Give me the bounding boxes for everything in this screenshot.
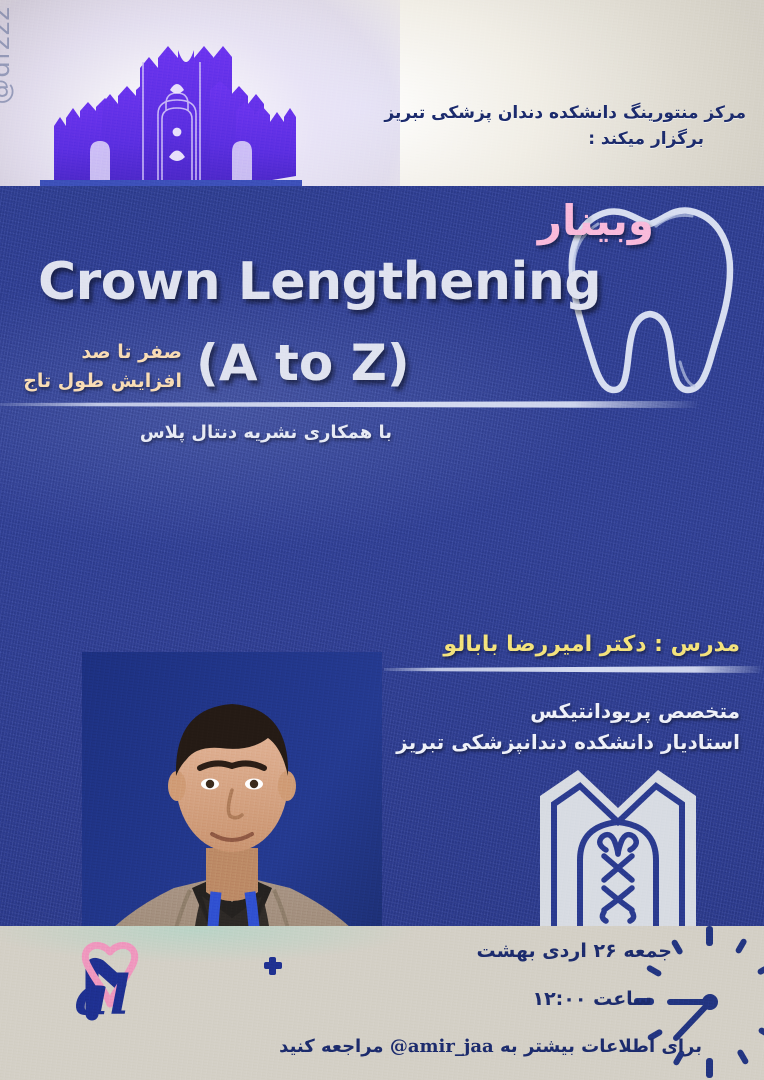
brand-wordmark: ental — [74, 963, 130, 1022]
webinar-poster: مرکز منتورینگ دانشکده دندان پزشکی تبریز … — [0, 0, 764, 1080]
poster-header: مرکز منتورینگ دانشکده دندان پزشکی تبریز … — [0, 0, 764, 186]
collaboration-text: با همکاری نشریه دنتال پلاس — [140, 422, 392, 443]
watermark: @dfzzz — [0, 0, 14, 6]
divider-speaker — [384, 666, 764, 673]
hero-band: وبینار Crown Lengthening (A to Z) صفر تا… — [0, 186, 764, 926]
speaker-portrait — [82, 652, 382, 926]
divider-top — [0, 401, 700, 408]
more-info-line: برای اطلاعات بیشتر به @amir_jaa مراجعه ک… — [279, 1036, 702, 1057]
more-info-prefix: برای اطلاعات بیشتر به — [500, 1036, 702, 1057]
speaker-role: متخصص پریودانتیکس استادیار دانشکده دندان… — [396, 696, 740, 758]
speaker-role-line-1: متخصص پریودانتیکس — [396, 696, 740, 727]
event-date: جمعه ۲۶ اردی بهشت — [477, 940, 672, 962]
event-time: ساعت ۱۲:۰۰ — [532, 988, 652, 1010]
subtitle-persian: صفر تا صد افزایش طول تاج — [23, 338, 182, 397]
tabriz-blue-mosque-silhouette-icon — [40, 22, 302, 186]
organizer-line-2: برگزار میکند : — [276, 126, 746, 152]
organizer-line-1: مرکز منتورینگ دانشکده دندان پزشکی تبریز — [276, 100, 746, 126]
instagram-handle[interactable]: @amir_jaa — [390, 1036, 494, 1057]
organizer-text: مرکز منتورینگ دانشکده دندان پزشکی تبریز … — [276, 100, 746, 153]
title-a-to-z: (A to Z) — [196, 334, 410, 392]
speaker-name: مدرس : دکتر امیررضا بابالو — [443, 632, 740, 657]
more-info-suffix: مراجعه کنید — [279, 1036, 383, 1057]
speaker-role-line-2: استادیار دانشکده دندانپزشکی تبریز — [396, 727, 740, 758]
subtitle-persian-line-2: افزایش طول تاج — [23, 367, 182, 396]
dental-plus-logo: ental — [74, 940, 290, 1022]
webinar-label: وبینار — [538, 196, 654, 245]
tabriz-university-logo-icon — [532, 764, 704, 926]
poster-footer: جمعه ۲۶ اردی بهشت ساعت ۱۲:۰۰ برای اطلاعا… — [0, 926, 764, 1080]
subtitle-persian-line-1: صفر تا صد — [23, 338, 182, 367]
watermark-text: @dfzzz — [0, 6, 16, 105]
plus-icon — [264, 957, 282, 975]
title-english: Crown Lengthening — [38, 252, 601, 312]
